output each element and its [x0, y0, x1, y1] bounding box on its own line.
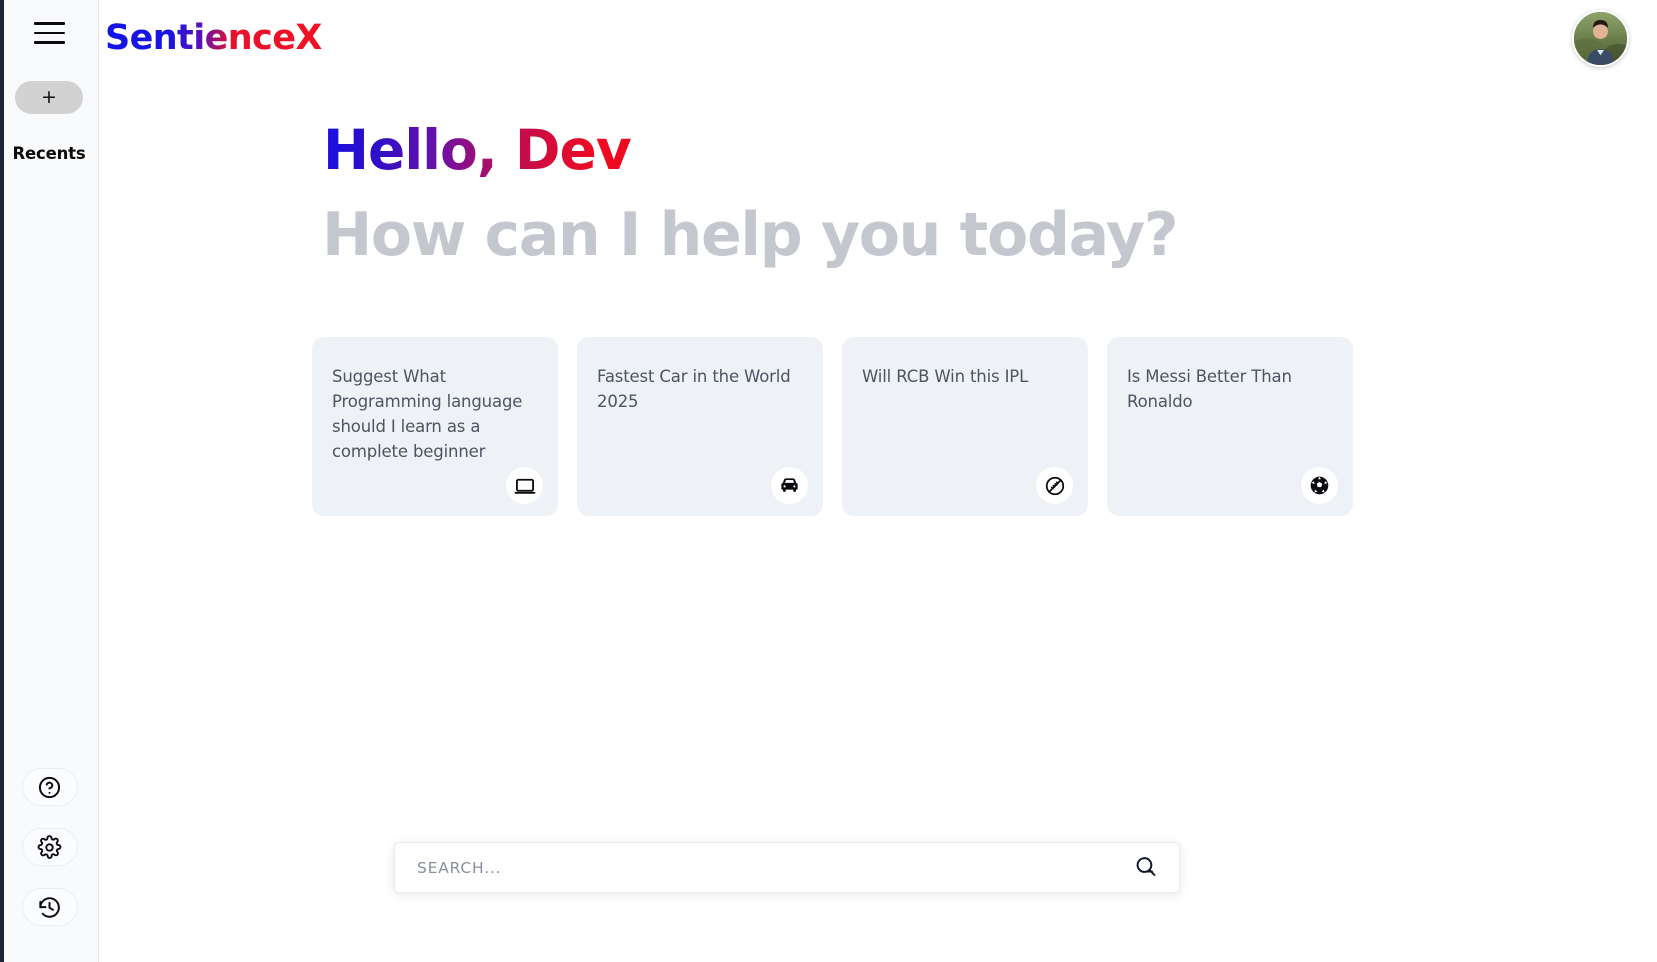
hamburger-bar [34, 32, 65, 35]
history-button[interactable] [22, 888, 78, 926]
hamburger-bar [34, 22, 65, 25]
hamburger-menu-icon[interactable] [26, 16, 72, 50]
search-send-button[interactable] [1129, 852, 1161, 884]
history-clock-icon [37, 895, 62, 920]
hamburger-bar [34, 41, 65, 44]
main-content: Hello, Dev How can I help you today? Sug… [99, 0, 1657, 962]
suggestion-cards: Suggest What Programming language should… [312, 337, 1353, 516]
sidebar-bottom-actions [0, 768, 99, 926]
help-circle-icon [37, 775, 62, 800]
page-title: Hello, Dev [323, 122, 631, 180]
settings-button[interactable] [22, 828, 78, 866]
suggestion-card-text: Is Messi Better Than Ronaldo [1127, 364, 1331, 414]
football-icon [1301, 467, 1338, 504]
cricket-ball-icon [1036, 467, 1073, 504]
suggestion-card-text: Fastest Car in the World 2025 [597, 364, 801, 414]
suggestion-card-messi-ronaldo[interactable]: Is Messi Better Than Ronaldo [1107, 337, 1353, 516]
gear-icon [37, 835, 62, 860]
laptop-icon [506, 467, 543, 504]
suggestion-card-fastest-car[interactable]: Fastest Car in the World 2025 [577, 337, 823, 516]
recents-label: Recents [13, 144, 86, 163]
search-bar[interactable] [394, 842, 1180, 893]
suggestion-card-text: Will RCB Win this IPL [862, 364, 1066, 389]
new-chat-button[interactable]: + [15, 81, 83, 114]
help-button[interactable] [22, 768, 78, 806]
suggestion-card-rcb-ipl[interactable]: Will RCB Win this IPL [842, 337, 1088, 516]
app-root: + Recents [0, 0, 1657, 962]
search-input[interactable] [417, 859, 1129, 877]
suggestion-card-text: Suggest What Programming language should… [332, 364, 536, 464]
sidebar: + Recents [0, 0, 99, 962]
page-subtitle: How can I help you today? [322, 204, 1177, 267]
car-icon [771, 467, 808, 504]
suggestion-card-programming[interactable]: Suggest What Programming language should… [312, 337, 558, 516]
search-send-icon [1133, 854, 1158, 882]
